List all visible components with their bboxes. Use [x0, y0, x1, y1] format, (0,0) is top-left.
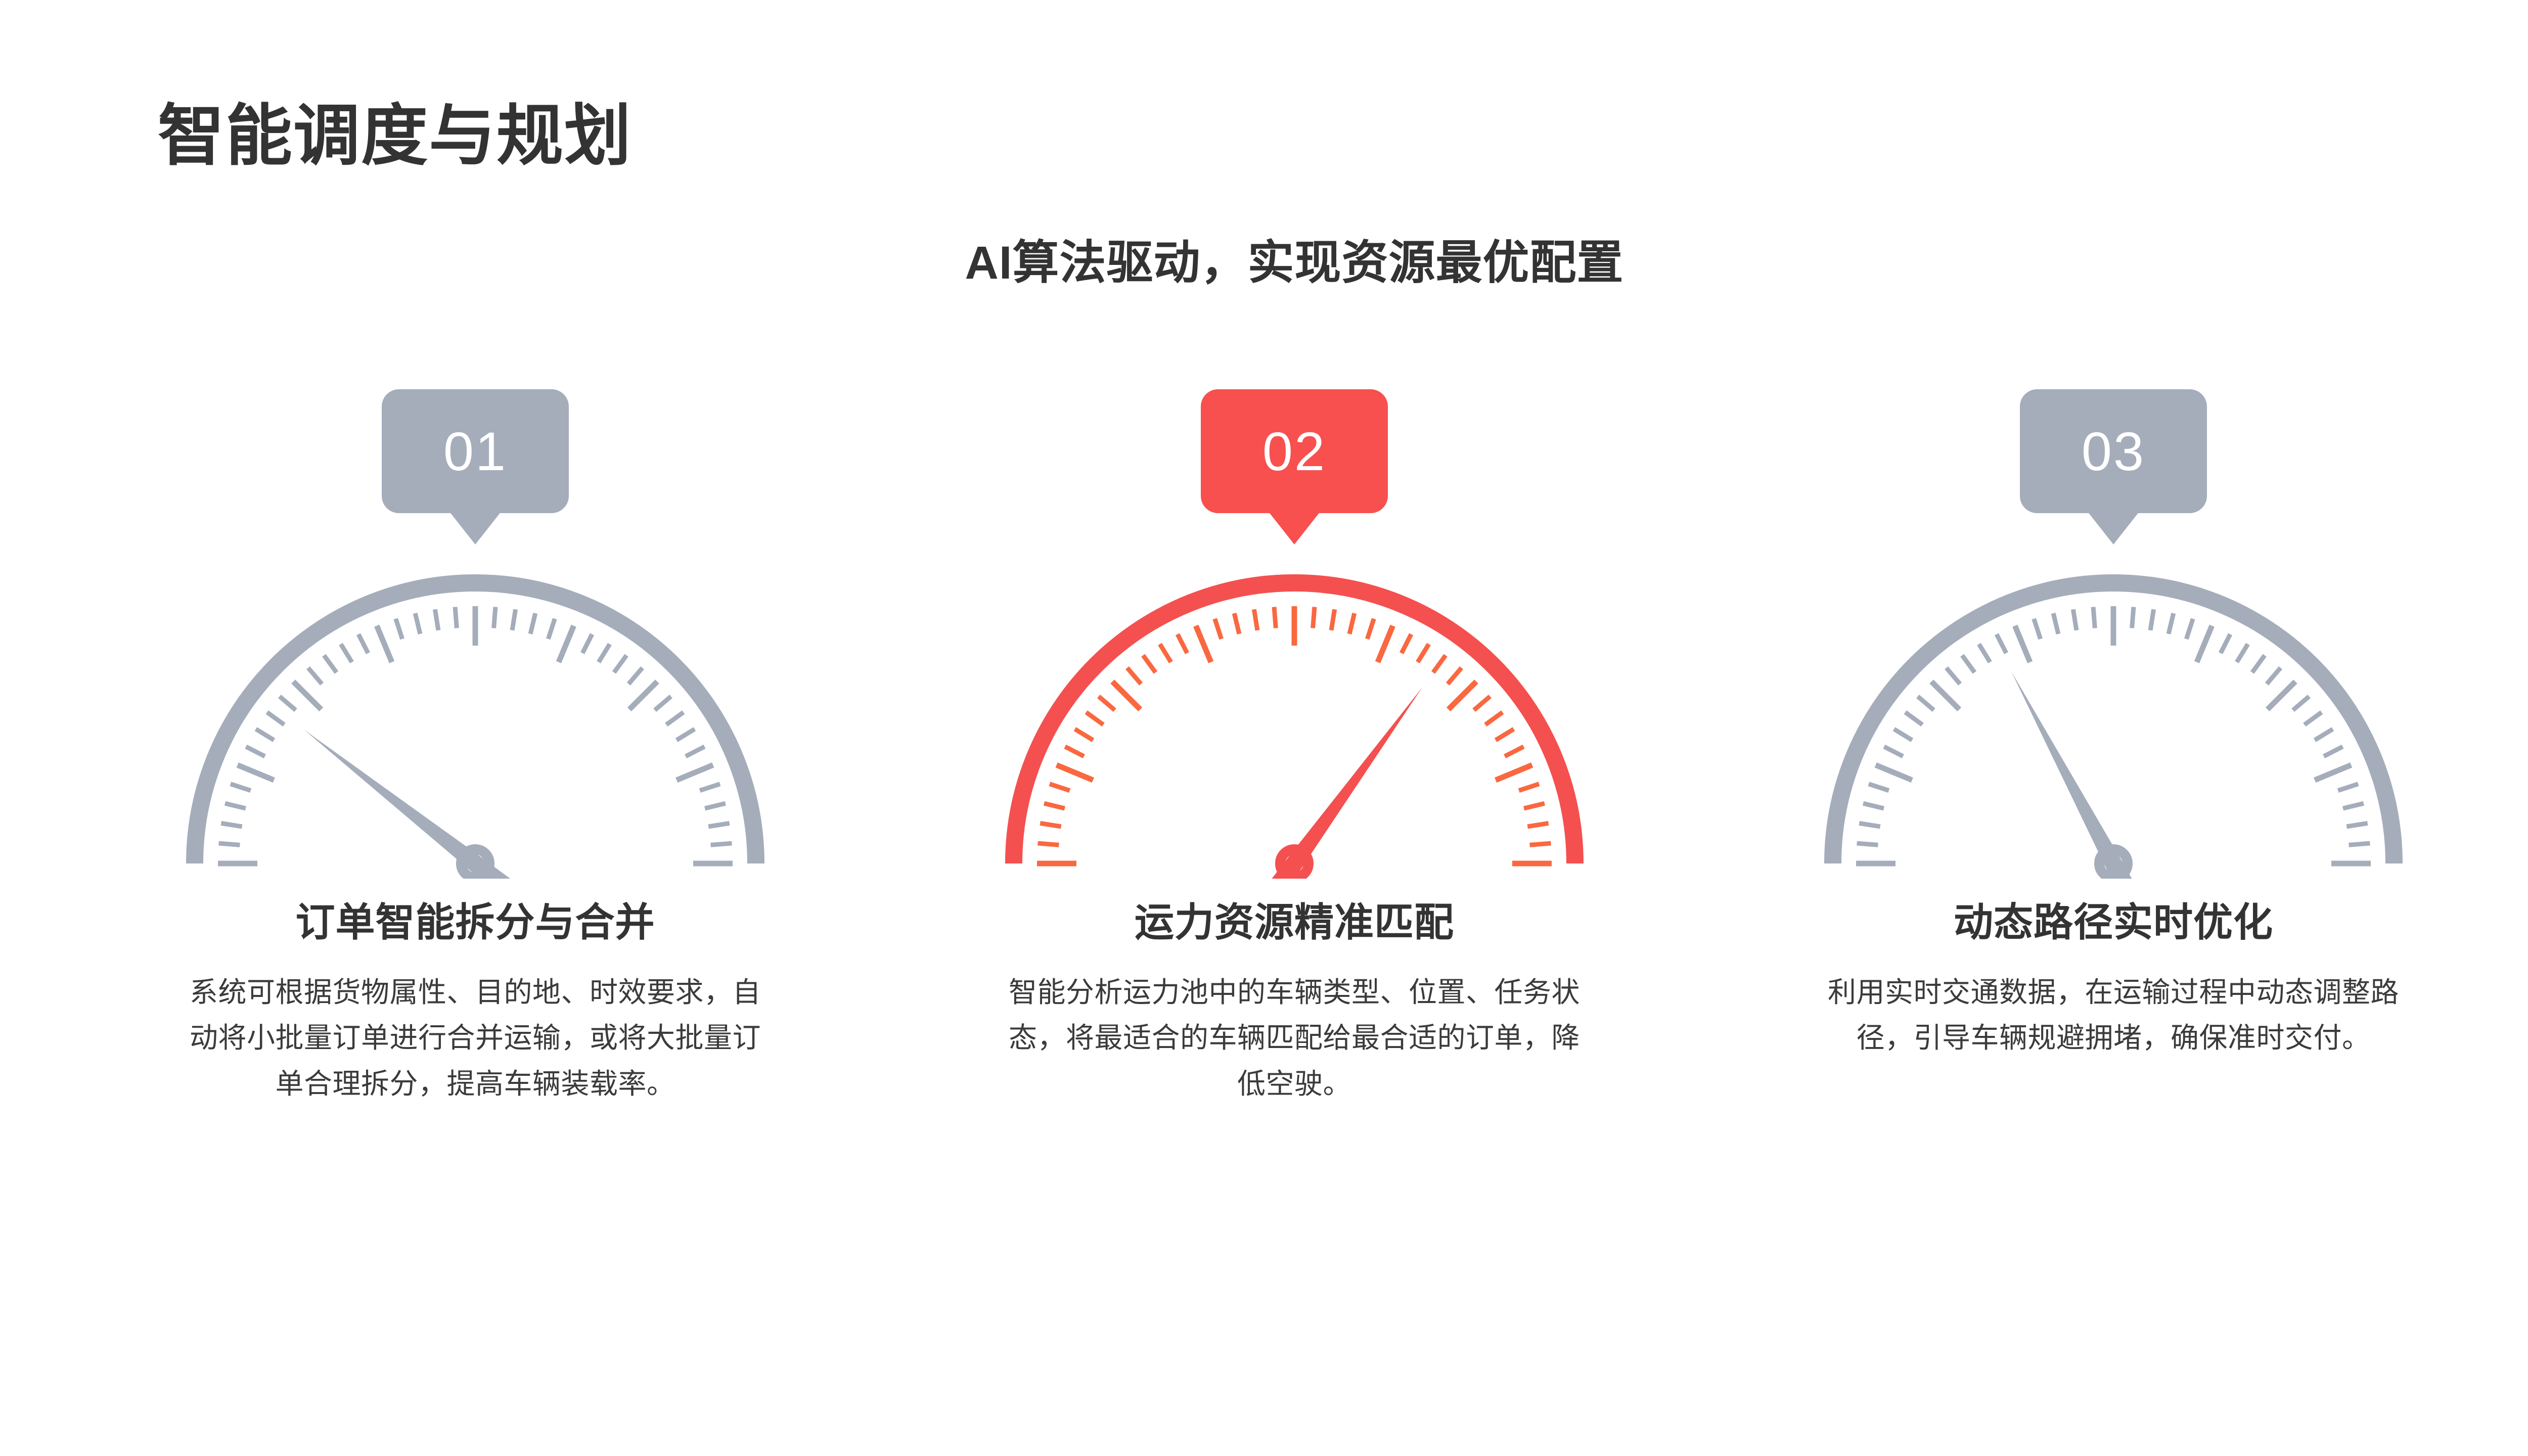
gauge-tick-minor	[1527, 823, 1548, 827]
gauge-tick-minor	[666, 712, 684, 725]
gauge-tick-minor	[1143, 655, 1156, 672]
gauge-tick-minor	[1474, 696, 1490, 710]
gauge-tick-minor	[1962, 655, 1975, 672]
gauge-tick-minor	[1505, 747, 1523, 756]
card-title: 运力资源精准匹配	[1135, 899, 1454, 946]
gauge-tick-minor	[2237, 644, 2248, 662]
card-title: 订单智能拆分与合并	[295, 899, 655, 946]
gauge-tick-minor	[708, 823, 729, 827]
gauge-tick-minor	[1448, 668, 1461, 684]
gauge-tick-major	[1378, 626, 1393, 662]
step-number-badge[interactable]: 02	[1201, 389, 1388, 513]
gauge-needle	[304, 730, 537, 879]
feature-card-01: 01订单智能拆分与合并系统可根据货物属性、目的地、时效要求，自动将小批量订单进行…	[66, 389, 885, 1107]
gauge-tick-minor	[1367, 619, 1374, 639]
gauge-tick-minor	[1519, 784, 1539, 791]
gauge-tick-minor	[1946, 668, 1960, 684]
card-body-text: 利用实时交通数据，在运输过程中动态调整路径，引导车辆规避拥堵，确保准时交付。	[1815, 970, 2412, 1061]
badge-wrapper: 01	[382, 389, 569, 551]
gauge-tick-minor	[2293, 696, 2309, 710]
gauge-tick-minor	[1349, 613, 1355, 634]
gauge-tick-minor	[1127, 668, 1141, 684]
gauge-tick-minor	[1044, 803, 1065, 808]
gauge-tick-minor	[221, 823, 242, 827]
gauge-tick-minor	[2252, 655, 2265, 672]
gauge-tick-minor	[225, 803, 246, 808]
gauge-tick-major	[1931, 681, 1959, 709]
gauge-tick-minor	[2132, 607, 2134, 628]
gauge-tick-minor	[1050, 784, 1070, 791]
gauge-tick-minor	[1918, 696, 1934, 710]
gauge-tick-minor	[1086, 712, 1103, 725]
gauge-tick-minor	[686, 747, 704, 756]
gauge-tick-minor	[1160, 644, 1171, 662]
step-number-badge[interactable]: 01	[382, 389, 569, 513]
gauge-tick-minor	[1857, 843, 1878, 845]
gauge-tick-minor	[308, 668, 322, 684]
gauge-tick-minor	[1234, 613, 1239, 634]
card-title: 动态路径实时优化	[1954, 899, 2273, 946]
gauge-tick-minor	[2349, 843, 2370, 845]
gauge-tick-minor	[1524, 803, 1545, 808]
gauge-tick-minor	[2315, 729, 2333, 740]
gauge-tick-minor	[2343, 803, 2364, 808]
gauge-tick-minor	[1496, 729, 1514, 740]
gauge-tick-minor	[2338, 784, 2358, 791]
gauge-tick-minor	[2305, 712, 2322, 725]
gauge-tick-minor	[1099, 696, 1115, 710]
gauge-tick-minor	[1485, 712, 1503, 725]
gauge-tick-minor	[599, 644, 610, 662]
gauge-tick-minor	[324, 655, 337, 672]
gauge-tick-minor	[1869, 784, 1889, 791]
gauge-tick-minor	[1254, 609, 1257, 630]
gauge-tick-minor	[1075, 729, 1093, 740]
gauge-tick-minor	[341, 644, 352, 662]
gauge-tick-minor	[1331, 609, 1335, 630]
gauge-tick-minor	[2150, 609, 2154, 630]
gauge-tick-minor	[548, 619, 555, 639]
gauge-tick-major	[1112, 681, 1140, 709]
gauge-tick-minor	[2093, 607, 2095, 628]
gauge-tick-minor	[256, 729, 274, 740]
badge-wrapper: 02	[1201, 389, 1388, 551]
gauge-tick-major	[238, 765, 274, 780]
gauge-tick-minor	[1863, 803, 1884, 808]
gauge-tick-minor	[2169, 613, 2174, 634]
gauge-tick-minor	[358, 634, 368, 653]
gauge-tick-minor	[415, 613, 420, 634]
gauge-tick-major	[629, 681, 657, 709]
gauge-tick-minor	[1313, 607, 1315, 628]
gauge-tick-minor	[582, 634, 592, 653]
gauge-tick-minor	[1274, 607, 1276, 628]
gauge-tick-major	[2315, 765, 2351, 780]
gauge-tick-minor	[455, 607, 457, 628]
gauge-tick-minor	[1065, 747, 1084, 756]
gauge-tick-minor	[280, 696, 296, 710]
gauge-tick-minor	[1040, 823, 1061, 827]
gauge-tick-minor	[1905, 712, 1922, 725]
feature-card-03: 03动态路径实时优化利用实时交通数据，在运输过程中动态调整路径，引导车辆规避拥堵…	[1704, 389, 2523, 1061]
gauge-tick-minor	[231, 784, 251, 791]
gauge-tick-major	[676, 765, 713, 780]
gauge-tick-minor	[655, 696, 671, 710]
gauge-needle	[1248, 688, 1422, 879]
gauge-tick-major	[1876, 765, 1912, 780]
gauge-tick-major	[2268, 681, 2295, 709]
gauge-tick-minor	[1530, 843, 1551, 845]
gauge-dial	[1820, 560, 2407, 879]
card-body-text: 系统可根据货物属性、目的地、时效要求，自动将小批量订单进行合并运输，或将大批量订…	[177, 970, 774, 1107]
gauge-tick-minor	[2267, 668, 2280, 684]
gauge-tick-minor	[1997, 634, 2006, 653]
gauge-tick-major	[1057, 765, 1093, 780]
gauge-tick-minor	[705, 803, 726, 808]
gauge-tick-minor	[512, 609, 516, 630]
gauge-tick-minor	[2186, 619, 2193, 639]
gauge-tick-minor	[2346, 823, 2367, 827]
step-number-badge[interactable]: 03	[2020, 389, 2207, 513]
step-number-label: 01	[443, 424, 507, 479]
badge-wrapper: 03	[2020, 389, 2207, 551]
gauge-tick-major	[559, 626, 574, 662]
step-number-label: 03	[2082, 424, 2145, 479]
gauge-tick-minor	[676, 729, 695, 740]
card-columns: 01订单智能拆分与合并系统可根据货物属性、目的地、时效要求，自动将小批量订单进行…	[0, 389, 2528, 1299]
gauge-tick-minor	[1402, 634, 1411, 653]
gauge-tick-minor	[1859, 823, 1880, 827]
gauge-tick-minor	[1418, 644, 1429, 662]
page-title: 智能调度与规划	[158, 99, 632, 172]
gauge-tick-minor	[711, 843, 732, 845]
gauge-tick-minor	[2034, 619, 2041, 639]
gauge-tick-minor	[396, 619, 402, 639]
gauge-tick-major	[2015, 626, 2030, 662]
gauge-tick-minor	[267, 712, 284, 725]
gauge-tick-minor	[2221, 634, 2230, 653]
gauge-tick-minor	[700, 784, 720, 791]
gauge-tick-minor	[628, 668, 642, 684]
gauge-tick-minor	[614, 655, 627, 672]
page-subtitle: AI算法驱动，实现资源最优配置	[0, 237, 2528, 290]
gauge-tick-minor	[1038, 843, 1059, 845]
slide-root: 智能调度与规划 AI算法驱动，实现资源最优配置 01订单智能拆分与合并系统可根据…	[0, 0, 2528, 1456]
gauge-tick-minor	[494, 607, 495, 628]
gauge-tick-minor	[2073, 609, 2076, 630]
gauge-tick-major	[293, 681, 321, 709]
gauge-dial	[1001, 560, 1588, 879]
gauge-tick-minor	[2053, 613, 2058, 634]
gauge-tick-minor	[246, 747, 264, 756]
feature-card-02: 02运力资源精准匹配智能分析运力池中的车辆类型、位置、任务状态，将最适合的车辆匹…	[885, 389, 1704, 1107]
gauge-tick-major	[1196, 626, 1211, 662]
gauge-dial	[182, 560, 769, 879]
gauge-tick-minor	[1215, 619, 1222, 639]
gauge-tick-minor	[2324, 747, 2342, 756]
gauge-tick-minor	[1894, 729, 1912, 740]
gauge-tick-minor	[1178, 634, 1187, 653]
gauge-tick-major	[2197, 626, 2212, 662]
gauge-tick-major	[377, 626, 392, 662]
gauge-needle	[2011, 671, 2150, 879]
step-number-label: 02	[1262, 424, 1326, 479]
gauge-tick-major	[1496, 765, 1532, 780]
gauge-tick-minor	[1433, 655, 1446, 672]
gauge-tick-minor	[1884, 747, 1903, 756]
card-body-text: 智能分析运力池中的车辆类型、位置、任务状态，将最适合的车辆匹配给最合适的订单，降…	[996, 970, 1593, 1107]
gauge-tick-minor	[435, 609, 438, 630]
gauge-tick-minor	[1979, 644, 1990, 662]
gauge-tick-minor	[219, 843, 240, 845]
gauge-tick-minor	[530, 613, 535, 634]
gauge-tick-major	[1449, 681, 1476, 709]
